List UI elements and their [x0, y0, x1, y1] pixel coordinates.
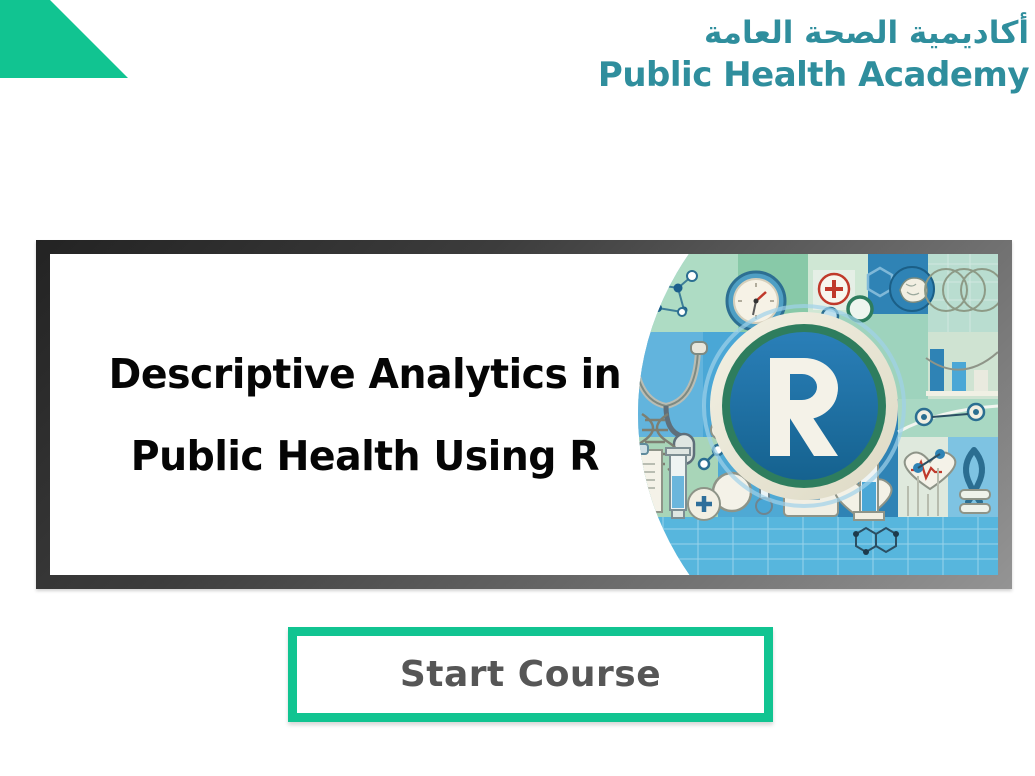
start-course-button[interactable]: Start Course: [288, 627, 773, 722]
grey-chevron-icon: [0, 0, 45, 60]
course-card-inner: Descriptive Analytics in Public Health U…: [50, 254, 998, 575]
course-title: Descriptive Analytics in Public Health U…: [50, 254, 680, 575]
course-card: Descriptive Analytics in Public Health U…: [36, 240, 1012, 589]
brand-logo: أكاديمية الصحة العامة Public Health Acad…: [598, 18, 1029, 92]
corner-decoration: [0, 0, 135, 135]
brand-name-arabic: أكاديمية الصحة العامة: [598, 18, 1029, 49]
course-title-line-1: Descriptive Analytics in: [109, 350, 622, 398]
start-course-button-label: Start Course: [400, 654, 661, 695]
brand-name-english: Public Health Academy: [598, 58, 1029, 92]
green-chevron-icon: [0, 0, 128, 78]
course-title-line-2: Public Health Using R: [131, 432, 599, 480]
